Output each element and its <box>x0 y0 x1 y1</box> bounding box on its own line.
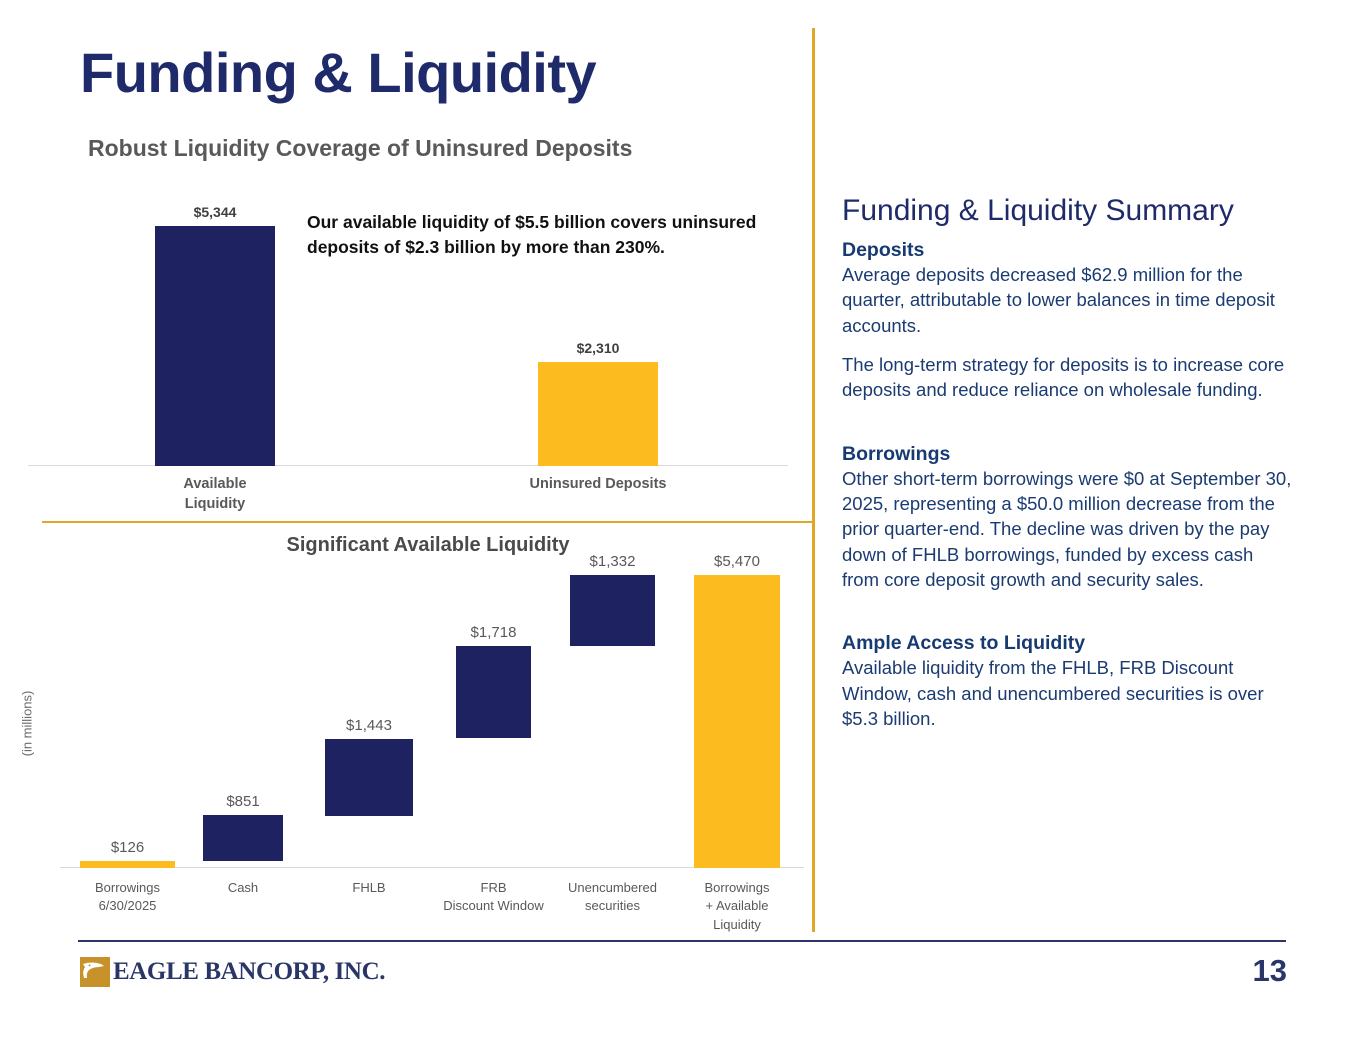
chart2-y-axis-label: (in millions) <box>20 669 35 779</box>
waterfall-bar-value: $1,443 <box>249 717 489 734</box>
waterfall-category-label: Borrowings+ AvailableLiquidity <box>637 879 837 934</box>
panel-paragraph: Available liquidity from the FHLB, FRB D… <box>842 655 1294 731</box>
waterfall-bar <box>203 815 283 861</box>
waterfall-bar-group: $1,718FRBDiscount Window <box>456 575 531 868</box>
chart1-bar-group: $5,344AvailableLiquidity <box>155 226 275 466</box>
footer-divider <box>78 940 1286 942</box>
panel-section-spacer <box>842 417 1294 433</box>
page-subtitle: Robust Liquidity Coverage of Uninsured D… <box>88 135 632 162</box>
panel-section-heading: Borrowings <box>842 443 1294 466</box>
chart1-bar <box>538 362 658 466</box>
waterfall-bar <box>456 646 531 738</box>
chart1-bar-value: $2,310 <box>498 340 698 356</box>
chart1-bar-value: $5,344 <box>115 204 315 220</box>
panel-sections: DepositsAverage deposits decreased $62.9… <box>842 239 1294 731</box>
callout-text: Our available liquidity of $5.5 billion … <box>307 210 779 260</box>
panel-paragraph: Average deposits decreased $62.9 million… <box>842 262 1294 338</box>
chart1-category-label: AvailableLiquidity <box>115 475 315 514</box>
available-liquidity-waterfall-chart: $126Borrowings6/30/2025$851Cash$1,443FHL… <box>60 575 804 868</box>
panel-section-heading: Ample Access to Liquidity <box>842 632 1294 655</box>
vertical-divider <box>812 28 815 932</box>
panel-paragraph: The long-term strategy for deposits is t… <box>842 352 1294 403</box>
panel-section-heading: Deposits <box>842 239 1294 262</box>
waterfall-bar-value: $5,470 <box>617 553 857 570</box>
waterfall-bar-group: $1,443FHLB <box>325 575 413 868</box>
waterfall-bar-group: $126Borrowings6/30/2025 <box>80 575 175 868</box>
page-title: Funding & Liquidity <box>80 44 596 103</box>
waterfall-bar-group: $5,470Borrowings+ AvailableLiquidity <box>694 575 780 868</box>
chart1-axis-line <box>28 465 788 466</box>
eagle-head-icon <box>80 957 110 987</box>
summary-panel: Funding & Liquidity Summary DepositsAver… <box>842 193 1294 745</box>
horizontal-divider <box>42 521 814 523</box>
company-logo: EAGLE BANCORP, INC. <box>80 957 385 987</box>
chart1-bar <box>155 226 275 466</box>
waterfall-bar <box>80 861 175 868</box>
page-number: 13 <box>1253 953 1287 989</box>
waterfall-bar <box>570 575 655 646</box>
waterfall-bar <box>694 575 780 868</box>
waterfall-bar <box>325 739 413 816</box>
waterfall-bar-group: $1,332Unencumberedsecurities <box>570 575 655 868</box>
panel-paragraph: Other short-term borrowings were $0 at S… <box>842 466 1294 593</box>
panel-heading: Funding & Liquidity Summary <box>842 193 1294 229</box>
chart1-category-label: Uninsured Deposits <box>498 475 698 495</box>
panel-section-spacer <box>842 606 1294 622</box>
logo-wordmark: EAGLE BANCORP, INC. <box>113 958 385 986</box>
chart1-bar-group: $2,310Uninsured Deposits <box>538 362 658 466</box>
